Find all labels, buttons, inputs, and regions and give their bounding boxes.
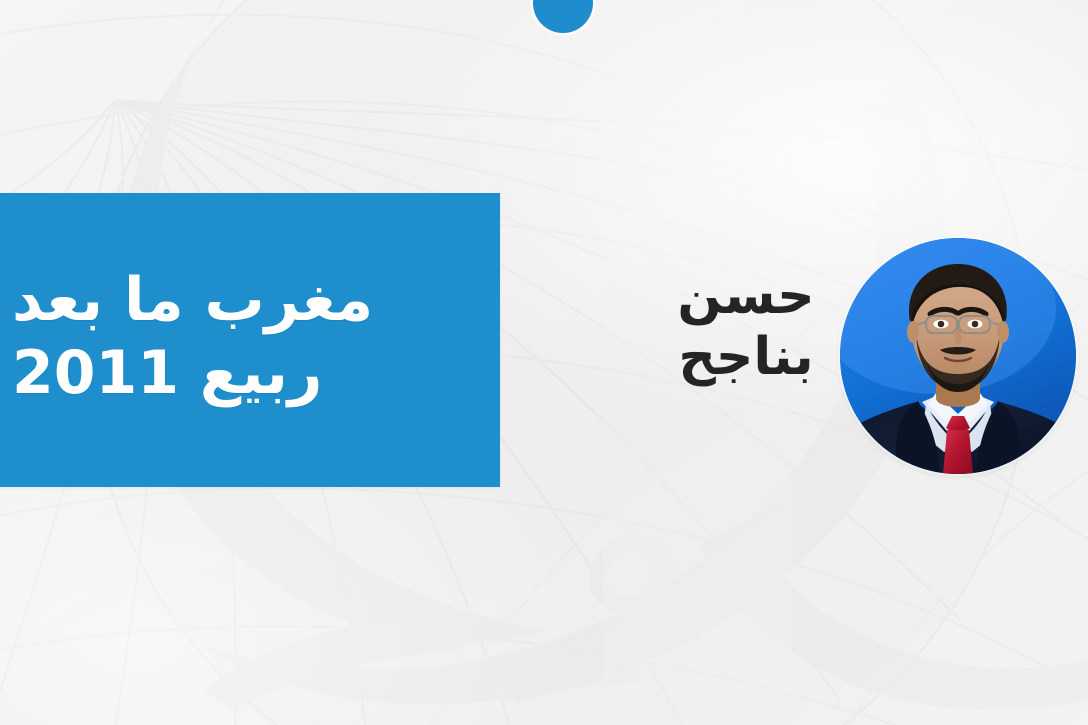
author-name-line-1: حسن: [666, 266, 826, 327]
title-panel: مغرب ما بعد ربيع 2011: [0, 193, 500, 487]
page-title-line-2: ربيع 2011: [12, 337, 322, 410]
author-name: حسن بناجح: [666, 266, 826, 389]
avatar: [840, 238, 1076, 474]
article-card: مغرب ما بعد ربيع 2011 حسن بناجح: [0, 0, 1088, 725]
page-title-line-1: مغرب ما بعد: [12, 264, 373, 337]
author-portrait-icon: [840, 238, 1076, 474]
author-name-line-2: بناجح: [666, 327, 826, 388]
